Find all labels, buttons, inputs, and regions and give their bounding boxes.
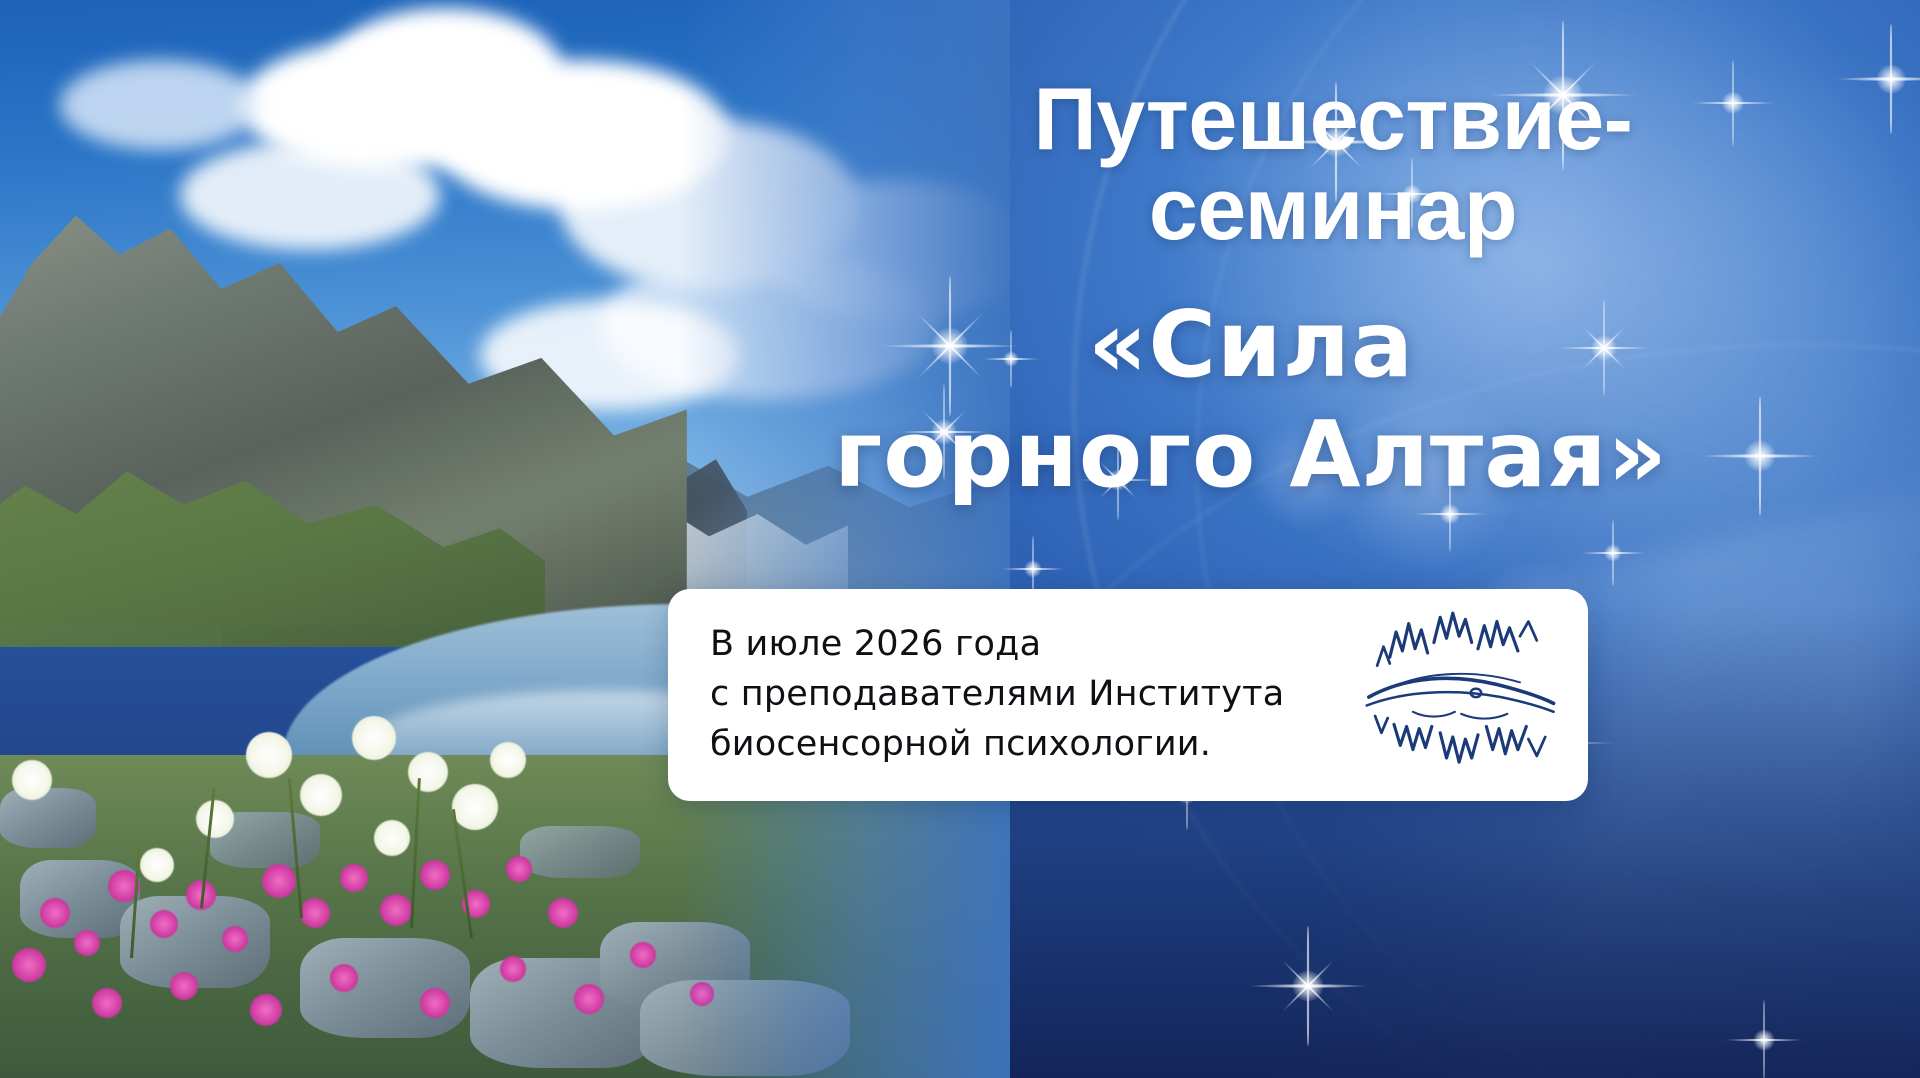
cloud-7	[60, 60, 260, 150]
pink-flower	[420, 988, 450, 1018]
pink-flower	[12, 948, 46, 982]
pink-flower	[500, 956, 526, 982]
headline-line-2: семинар	[828, 164, 1838, 254]
cloud-5	[560, 120, 860, 290]
rock-9	[520, 826, 640, 878]
white-flower	[140, 848, 174, 882]
white-flower	[490, 742, 526, 778]
pink-flower	[506, 856, 532, 882]
page-title: Путешествие- семинар	[828, 74, 1838, 254]
cloud-4	[180, 140, 440, 250]
pink-flower	[420, 860, 450, 890]
promo-banner: Путешествие- семинар «Сила горного Алтая…	[0, 0, 1920, 1078]
pink-flower	[300, 898, 330, 928]
white-flower	[452, 784, 498, 830]
info-card: В июле 2026 года с преподавателями Инсти…	[668, 589, 1588, 801]
info-line-1: В июле 2026 года	[710, 620, 1342, 670]
white-flower	[374, 820, 410, 856]
pink-flower	[170, 972, 198, 1000]
rock-6	[640, 980, 850, 1076]
subtitle-line-1: «Сила	[620, 290, 1882, 400]
program-name: «Сила горного Алтая»	[620, 290, 1882, 511]
pink-flower	[330, 964, 358, 992]
pink-flower	[548, 898, 578, 928]
pink-flower	[74, 930, 100, 956]
pink-flower	[630, 942, 656, 968]
white-flower	[352, 716, 396, 760]
white-flower	[246, 732, 292, 778]
pink-flower	[262, 864, 296, 898]
white-flower	[408, 752, 448, 792]
pink-flower	[222, 926, 248, 952]
subtitle-line-2: горного Алтая»	[620, 400, 1882, 510]
pink-flower	[574, 984, 604, 1014]
info-line-2: с преподавателями Института	[710, 670, 1342, 720]
white-flower	[12, 760, 52, 800]
white-flower	[196, 800, 234, 838]
headline-line-1: Путешествие-	[1034, 69, 1633, 168]
pink-flower	[92, 988, 122, 1018]
institute-logo-ink-sketch	[1352, 600, 1562, 790]
info-card-text: В июле 2026 года с преподавателями Инсти…	[668, 620, 1352, 769]
rock-7	[0, 788, 96, 848]
pink-flower	[150, 910, 178, 938]
white-flower	[300, 774, 342, 816]
pink-flower	[40, 898, 70, 928]
info-line-3: биосенсорной психологии.	[710, 720, 1342, 770]
pink-flower	[250, 994, 282, 1026]
pink-flower	[380, 894, 412, 926]
pink-flower	[690, 982, 714, 1006]
rock-3	[300, 938, 470, 1038]
pink-flower	[340, 864, 368, 892]
